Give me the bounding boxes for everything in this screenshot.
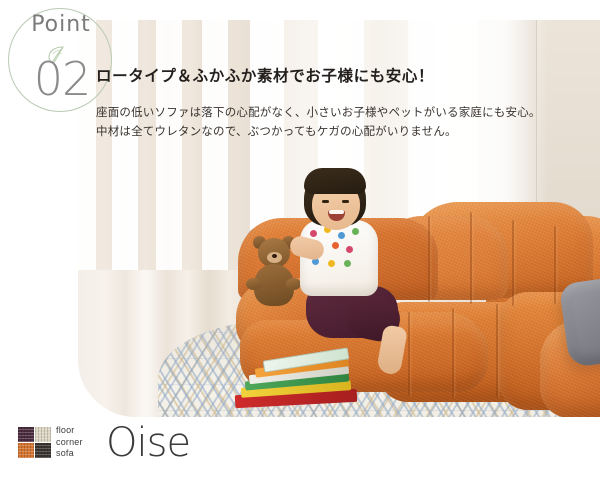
point-label: Point: [18, 12, 104, 37]
picture-book-stack: [235, 354, 357, 406]
brand-name: Oise: [106, 421, 190, 465]
teddy-paw-left: [246, 278, 261, 290]
sofa-seam: [428, 216, 430, 302]
brand-descriptor: floor corner sofa: [56, 425, 108, 460]
child-eye-right: [342, 200, 349, 203]
brand-logo: floor corner sofa Oise: [18, 425, 218, 463]
description-line-2: 中材は全てウレタンなので、ぶつかってもケガの心配がいりません。: [96, 123, 541, 142]
swatch-charcoal: [35, 443, 51, 458]
brand-descriptor-line-1: floor: [56, 425, 108, 437]
swatch-ivory: [35, 427, 51, 442]
product-feature-banner: Point 02 ロータイプ＆ふかふか素材でお子様にも安心！ 座面の低いソファは…: [0, 0, 600, 477]
sofa-seam: [470, 212, 472, 304]
swatch-purple: [18, 427, 34, 442]
brand-descriptor-line-3: sofa: [56, 448, 108, 460]
sofa-seam: [496, 304, 498, 398]
sofa-seam: [512, 220, 514, 306]
fabric-swatch-group: [18, 427, 52, 459]
brand-descriptor-line-2: corner: [56, 437, 108, 449]
description-text: 座面の低いソファは落下の心配がなく、小さいお子様やペットがいる家庭にも安心。 中…: [96, 104, 541, 142]
child-bangs: [304, 168, 366, 194]
page-title: ロータイプ＆ふかふか素材でお子様にも安心！: [96, 64, 434, 86]
child-eye-left: [322, 200, 329, 203]
sofa-seam: [554, 226, 556, 304]
description-line-1: 座面の低いソファは落下の心配がなく、小さいお子様やペットがいる家庭にも安心。: [96, 104, 541, 123]
sofa-seam: [452, 308, 454, 398]
swatch-orange: [18, 443, 34, 458]
